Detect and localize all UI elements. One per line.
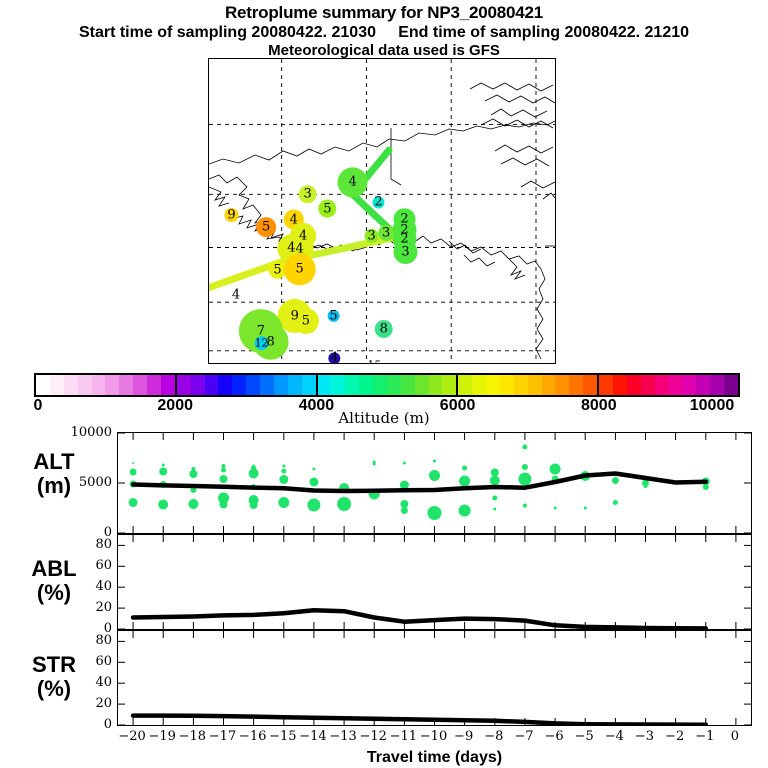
colorbar-cell: [78, 375, 92, 395]
y-tick-label: 80: [0, 633, 112, 648]
colorbar-cell: [387, 375, 401, 395]
x-tick-label: −20: [118, 729, 145, 744]
colorbar-cell: [655, 375, 669, 395]
colorbar-cell: [613, 375, 627, 395]
cluster-label: 5: [302, 315, 310, 328]
cluster-label: 9: [291, 309, 299, 322]
x-tick-label: −14: [299, 729, 326, 744]
cluster-label: 2: [400, 232, 408, 245]
title-block: Retroplume summary for NP3_20080421 Star…: [0, 0, 768, 60]
abl-plot-graphics: [118, 535, 751, 629]
colorbar-cell: [486, 375, 500, 395]
colorbar-cell: [232, 375, 246, 395]
colorbar-cell: [528, 375, 542, 395]
cluster-label: 4: [330, 352, 338, 364]
x-tick-label: −7: [514, 729, 533, 744]
colorbar-cell: [50, 375, 64, 395]
colorbar-cell: [105, 375, 119, 395]
cluster-label: 4: [287, 242, 295, 255]
x-tick-label: −1: [695, 729, 714, 744]
x-tick-label: −9: [454, 729, 473, 744]
colorbar-cell: [569, 375, 583, 395]
colorbar-cell: [331, 375, 345, 395]
altitude-colorbar: [34, 373, 740, 397]
cluster-label: 12: [255, 338, 269, 349]
y-tick-label: 40: [0, 675, 112, 690]
cluster-label: 5: [296, 263, 304, 276]
cluster-label: 3: [367, 229, 375, 242]
y-tick-label: 5000: [0, 475, 112, 490]
colorbar-cell: [429, 375, 443, 395]
colorbar-cell: [415, 375, 429, 395]
colorbar-cell: [218, 375, 232, 395]
str-chart-panel[interactable]: [117, 630, 752, 726]
colorbar-cell: [147, 375, 161, 395]
x-tick-label: −10: [420, 729, 447, 744]
colorbar-cell: [246, 375, 260, 395]
cluster-label: 8: [380, 322, 388, 335]
cluster-bubbles: [225, 167, 418, 363]
y-tick-label: 20: [0, 600, 112, 615]
colorbar-cell: [682, 375, 696, 395]
colorbar-cell: [119, 375, 133, 395]
colorbar-cell: [458, 375, 472, 395]
colorbar-cell: [583, 375, 597, 395]
x-tick-label: −13: [329, 729, 356, 744]
colorbar-wrapper: [34, 373, 740, 397]
cluster-label: 7: [257, 325, 265, 338]
y-tick-label: 10000: [0, 425, 112, 440]
cluster-label: 2: [374, 196, 382, 209]
colorbar-cell: [191, 375, 205, 395]
colorbar-cell: [710, 375, 724, 395]
colorbar-cell: [373, 375, 387, 395]
colorbar-cell: [64, 375, 78, 395]
x-tick-label: −15: [269, 729, 296, 744]
cluster-label: 9: [227, 208, 235, 221]
cluster-label: 3: [382, 226, 390, 239]
cluster-label: 5: [329, 309, 337, 322]
y-tick-label: 80: [0, 537, 112, 552]
colorbar-cell: [641, 375, 655, 395]
colorbar-cell: [724, 375, 738, 395]
x-tick-label: 0: [731, 729, 739, 744]
colorbar-cell: [260, 375, 274, 395]
colorbar-cell: [161, 375, 175, 395]
alt-label-line1: ALT: [8, 450, 100, 474]
x-tick-label: −12: [359, 729, 386, 744]
y-tick-label: 20: [0, 696, 112, 711]
colorbar-cell: [542, 375, 556, 395]
colorbar-cell: [177, 375, 191, 395]
colorbar-cell: [133, 375, 147, 395]
colorbar-axis-title: Altitude (m): [0, 409, 768, 427]
colorbar-cell: [36, 375, 50, 395]
x-axis-title: Travel time (days): [117, 749, 752, 767]
colorbar-cell: [274, 375, 288, 395]
colorbar-cell: [500, 375, 514, 395]
colorbar-cell: [696, 375, 710, 395]
colorbar-cell: [318, 375, 332, 395]
x-tick-label: −5: [575, 729, 594, 744]
alt-chart-panel[interactable]: [117, 432, 752, 534]
colorbar-cell: [599, 375, 613, 395]
retroplume-map[interactable]: 954345222233344455495587812415: [208, 58, 556, 364]
x-tick-label: −18: [179, 729, 206, 744]
colorbar-cell: [401, 375, 415, 395]
y-tick-label: 0: [0, 717, 112, 732]
x-tick-label: −6: [544, 729, 563, 744]
cluster-label: 4: [296, 243, 304, 256]
y-tick-label: 40: [0, 579, 112, 594]
y-tick-label: 60: [0, 558, 112, 573]
cluster-label: 3: [401, 246, 409, 259]
cluster-label: 5: [323, 202, 331, 215]
colorbar-cell: [345, 375, 359, 395]
cluster-label: 4: [232, 288, 240, 301]
colorbar-cell: [514, 375, 528, 395]
colorbar-cell: [442, 375, 456, 395]
y-tick-label: 60: [0, 654, 112, 669]
alt-plot-graphics: [118, 433, 751, 533]
colorbar-cell: [359, 375, 373, 395]
colorbar-cell: [472, 375, 486, 395]
cluster-label: 5: [262, 221, 270, 234]
colorbar-cell: [302, 375, 316, 395]
cluster-label: 3: [303, 188, 311, 201]
page-title: Retroplume summary for NP3_20080421: [0, 3, 768, 23]
colorbar-cell: [555, 375, 569, 395]
cluster-label: 5: [273, 263, 281, 276]
x-tick-label: −4: [605, 729, 624, 744]
abl-chart-panel[interactable]: [117, 534, 752, 630]
x-tick-label: −19: [148, 729, 175, 744]
colorbar-cell: [288, 375, 302, 395]
cluster-label: 15: [367, 359, 381, 364]
colorbar-cell: [92, 375, 106, 395]
x-tick-label: −11: [390, 729, 417, 744]
x-tick-label: −2: [665, 729, 684, 744]
sampling-time-line: Start time of sampling 20080422. 21030 E…: [0, 23, 768, 42]
cluster-label: 4: [299, 229, 307, 242]
colorbar-cell: [668, 375, 682, 395]
cluster-label: 4: [290, 213, 298, 226]
colorbar-cell: [205, 375, 219, 395]
x-tick-label: −16: [239, 729, 266, 744]
alt-row-label: ALT (m): [8, 450, 100, 498]
map-graphics: [209, 59, 555, 363]
x-tick-label: −3: [635, 729, 654, 744]
str-plot-graphics: [118, 631, 751, 725]
colorbar-cell: [627, 375, 641, 395]
x-tick-label: −8: [484, 729, 503, 744]
cluster-label: 4: [348, 176, 356, 189]
x-tick-label: −17: [209, 729, 236, 744]
retroplume-summary-figure: Retroplume summary for NP3_20080421 Star…: [0, 0, 768, 768]
